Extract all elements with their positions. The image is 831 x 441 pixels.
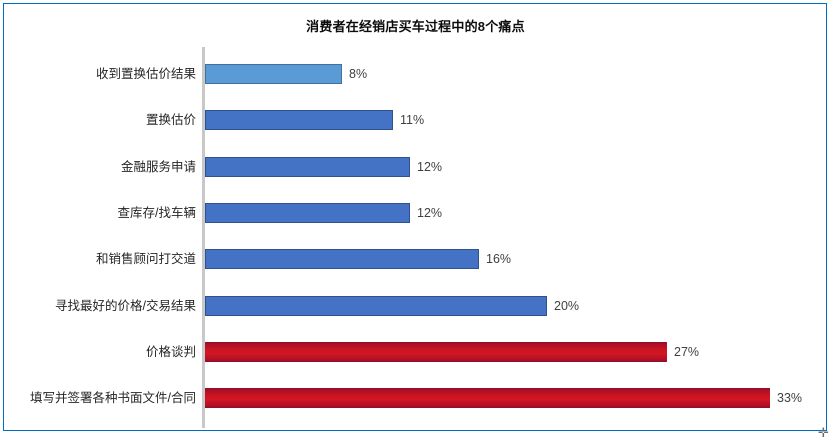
bar-value-label: 16% [486,249,511,269]
bar[interactable] [205,388,770,408]
bar[interactable] [205,110,393,130]
bar-row: 价格谈判27% [0,342,831,362]
bar-row: 寻找最好的价格/交易结果20% [0,296,831,316]
bar[interactable] [205,342,667,362]
bar[interactable] [205,296,547,316]
bar-row: 收到置换估价结果8% [0,64,831,84]
category-label: 置换估价 [0,110,196,130]
resize-handle-icon[interactable]: ✛ [817,427,830,440]
bar-row: 金融服务申请12% [0,157,831,177]
bar[interactable] [205,157,410,177]
category-label: 填写并签署各种书面文件/合同 [0,388,196,408]
bar-row: 和销售顾问打交道16% [0,249,831,269]
bar-row: 置换估价11% [0,110,831,130]
bar-value-label: 11% [400,110,424,130]
bar-value-label: 27% [674,342,699,362]
bar-row: 填写并签署各种书面文件/合同33% [0,388,831,408]
bar-row: 查库存/找车辆12% [0,203,831,223]
bar-value-label: 12% [417,203,442,223]
category-label: 收到置换估价结果 [0,64,196,84]
bar-value-label: 12% [417,157,442,177]
bar-value-label: 20% [554,296,579,316]
chart-container: 消费者在经销店买车过程中的8个痛点 收到置换估价结果8%置换估价11%金融服务申… [0,0,831,441]
bar[interactable] [205,203,410,223]
bar[interactable] [205,249,479,269]
bar-value-label: 8% [349,64,367,84]
category-label: 寻找最好的价格/交易结果 [0,296,196,316]
bar-value-label: 33% [777,388,802,408]
category-label: 和销售顾问打交道 [0,249,196,269]
category-label: 金融服务申请 [0,157,196,177]
bar[interactable] [205,64,342,84]
plot-area: 收到置换估价结果8%置换估价11%金融服务申请12%查库存/找车辆12%和销售顾… [0,0,831,441]
category-label: 查库存/找车辆 [0,203,196,223]
category-label: 价格谈判 [0,342,196,362]
value-axis-line [202,47,205,428]
